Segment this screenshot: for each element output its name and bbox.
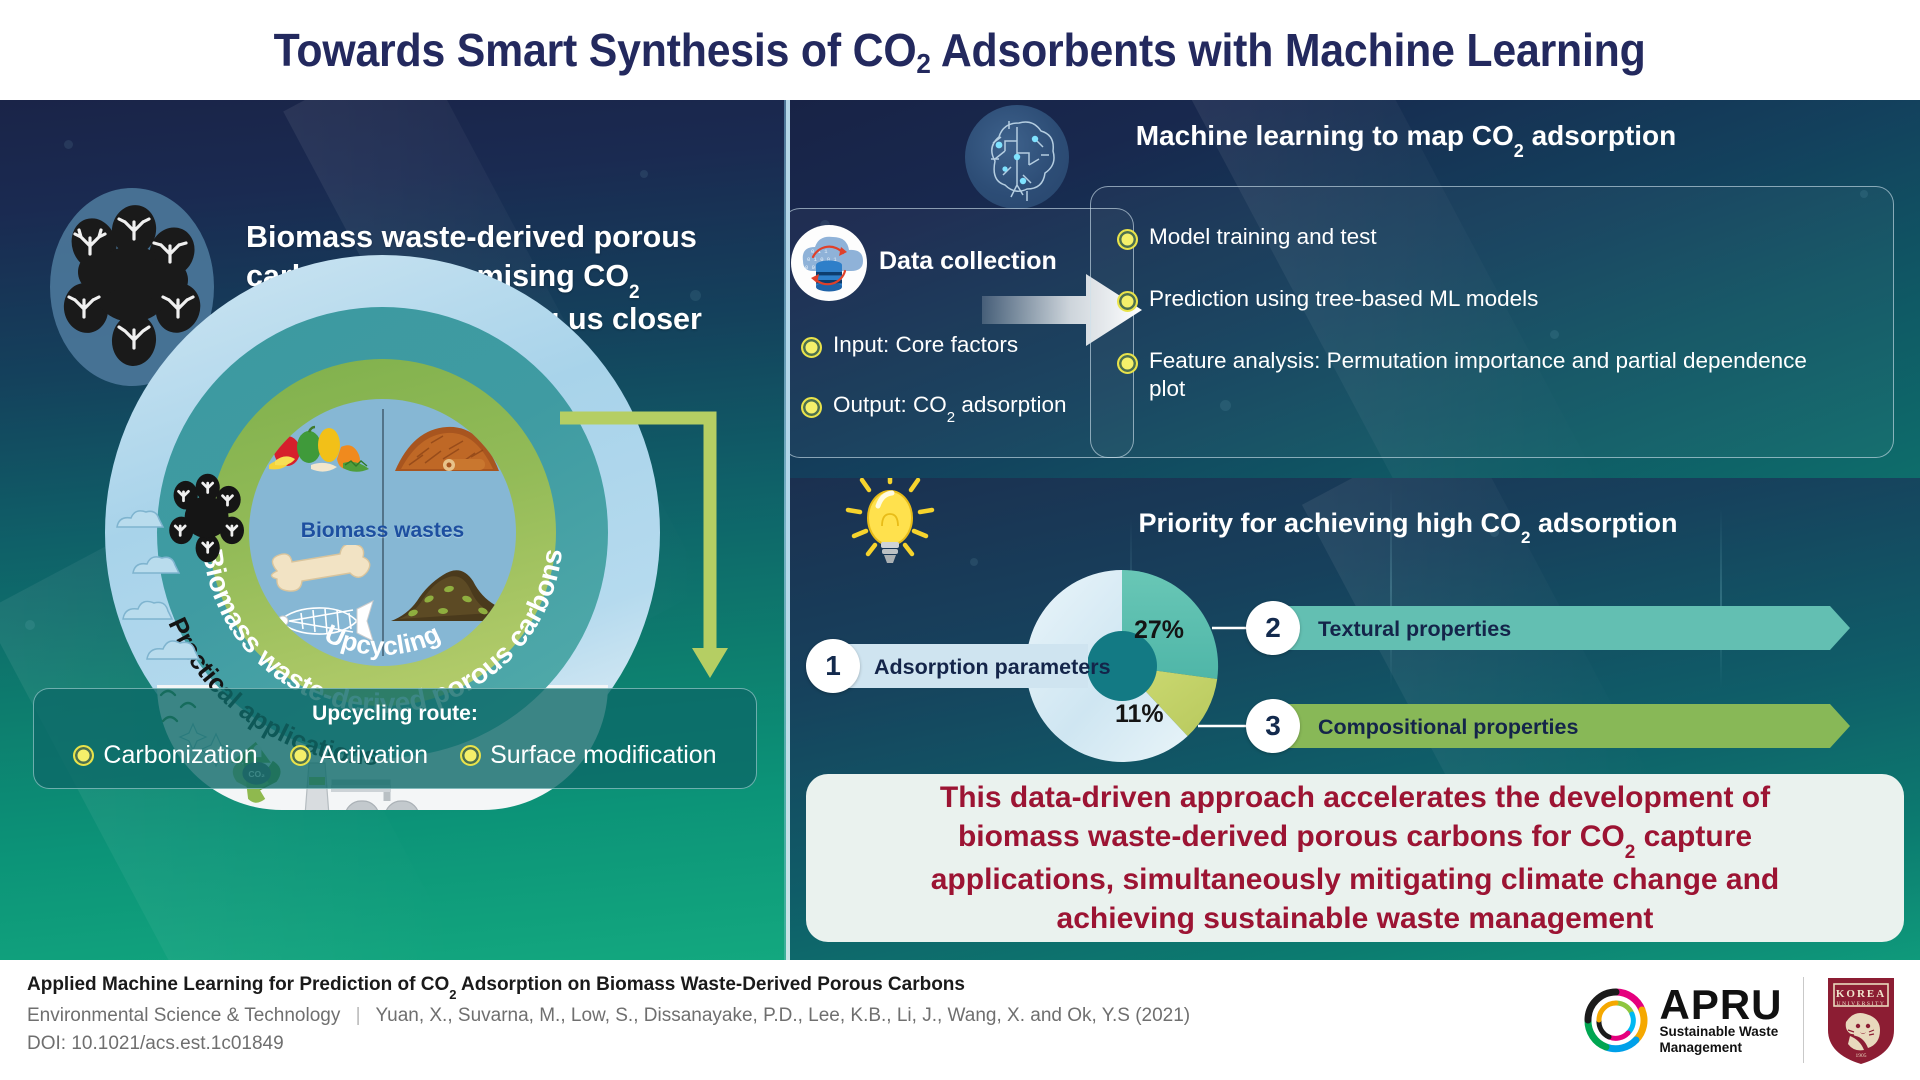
paper-authors: Yuan, X., Suvarna, M., Low, S., Dissanay… (376, 1005, 1191, 1026)
donut-label-11: 11% (1115, 700, 1164, 729)
bullet-icon (1117, 291, 1138, 312)
apru-wordmark: APRU (1659, 985, 1782, 1025)
apru-tagline-line1: Sustainable Waste (1659, 1024, 1782, 1040)
korea-university-logo: KOREA UNIVERSITY 1905 (1824, 974, 1898, 1066)
upcycling-route-box: Upcycling route: Carbonization Activatio… (33, 688, 757, 789)
paper-doi: DOI: 10.1021/acs.est.1c01849 (27, 1033, 284, 1055)
ku-text-korea: KOREA (1836, 988, 1886, 1000)
infographic-root: Towards Smart Synthesis of CO2 Adsorbent… (0, 0, 1920, 1080)
right-panel: Machine learning to map CO2 adsorption 0… (790, 100, 1920, 960)
model-steps-box: Model training and test Prediction using… (1090, 186, 1894, 458)
tag-3-number: 3 (1246, 699, 1300, 753)
upcycling-route-items: Carbonization Activation Surface modific… (34, 741, 756, 770)
tag-1-number: 1 (806, 639, 860, 693)
model-step-2: Prediction using tree-based ML models (1117, 285, 1867, 313)
ku-founding-year: 1905 (1856, 1053, 1867, 1059)
route-item-label: Carbonization (103, 741, 257, 770)
machine-learning-heading: Machine learning to map CO2 adsorption (906, 120, 1906, 157)
priority-tag-2[interactable]: 2 Textural properties (1246, 606, 1850, 650)
bokeh-dot (640, 170, 648, 178)
bokeh-dot (970, 558, 978, 566)
priority-section: Priority for achieving high CO2 adsorpti… (790, 478, 1920, 960)
ku-text-university: UNIVERSITY (1837, 1001, 1886, 1007)
infographic-canvas: Biomass waste-derived porous carbons are… (0, 100, 1920, 960)
route-item-label: Activation (320, 741, 428, 770)
page-title-bar: Towards Smart Synthesis of CO2 Adsorbent… (0, 0, 1920, 100)
apru-tagline-line2: Management (1659, 1040, 1782, 1056)
bullet-icon (801, 397, 822, 418)
tag-3-label: Compositional properties (1318, 715, 1578, 740)
priority-tag-1[interactable]: 1 Adsorption parameters (806, 644, 1088, 688)
page-title: Towards Smart Synthesis of CO2 Adsorbent… (274, 23, 1646, 77)
tag-2-label: Textural properties (1318, 617, 1511, 642)
tag-1-label: Adsorption parameters (874, 655, 1111, 680)
bullet-icon (290, 745, 311, 766)
paper-meta: Environmental Science & Technology | Yua… (27, 1005, 1190, 1027)
tag-2-number: 2 (1246, 601, 1300, 655)
data-collection-line-output: Output: CO2 adsorption (801, 391, 1119, 423)
conclusion-text: This data-driven approach accelerates th… (840, 778, 1870, 939)
apru-logo: APRU Sustainable Waste Management (1582, 985, 1782, 1056)
route-item-label: Surface modification (490, 741, 717, 770)
bullet-icon (460, 745, 481, 766)
data-collection-icon: 0 1 10 1 0 0 10 0 1 0 0 1 (791, 225, 867, 301)
donut-label-27: 27% (1134, 616, 1184, 645)
left-panel: Biomass waste-derived porous carbons are… (0, 100, 786, 960)
priority-tag-3[interactable]: 3 Compositional properties (1246, 704, 1850, 748)
journal-name: Environmental Science & Technology (27, 1005, 340, 1026)
footer-logos: APRU Sustainable Waste Management KOREA … (1582, 970, 1898, 1070)
paper-title: Applied Machine Learning for Prediction … (27, 974, 965, 998)
conclusion-line-4: achieving sustainable waste management (840, 899, 1870, 938)
model-step-3: Feature analysis: Permutation importance… (1117, 347, 1867, 403)
machine-learning-section: Machine learning to map CO2 adsorption 0… (790, 100, 1920, 478)
bullet-icon (1117, 229, 1138, 250)
route-item-activation[interactable]: Activation (290, 741, 428, 770)
conclusion-line-1: This data-driven approach accelerates th… (840, 778, 1870, 817)
bullet-icon (73, 745, 94, 766)
model-step-1: Model training and test (1117, 223, 1867, 251)
conclusion-box: This data-driven approach accelerates th… (806, 774, 1904, 942)
route-item-surface-modification[interactable]: Surface modification (460, 741, 717, 770)
conclusion-line-3: applications, simultaneously mitigating … (840, 860, 1870, 899)
logo-divider (1803, 977, 1805, 1063)
route-item-carbonization[interactable]: Carbonization (73, 741, 257, 770)
bullet-icon (801, 337, 822, 358)
bullet-icon (1117, 353, 1138, 374)
priority-heading: Priority for achieving high CO2 adsorpti… (908, 508, 1908, 543)
upcycling-route-title: Upcycling route: (34, 702, 756, 726)
bokeh-dot (64, 140, 73, 149)
meta-separator: | (356, 1005, 361, 1026)
footer: Applied Machine Learning for Prediction … (0, 960, 1920, 1080)
apru-swirl-icon (1582, 986, 1650, 1054)
bokeh-dot (25, 620, 35, 630)
ku-shield-icon: KOREA UNIVERSITY 1905 (1824, 974, 1898, 1066)
conclusion-line-2: biomass waste-derived porous carbons for… (840, 817, 1870, 861)
lead-line-1: Biomass waste-derived porous (246, 218, 766, 257)
